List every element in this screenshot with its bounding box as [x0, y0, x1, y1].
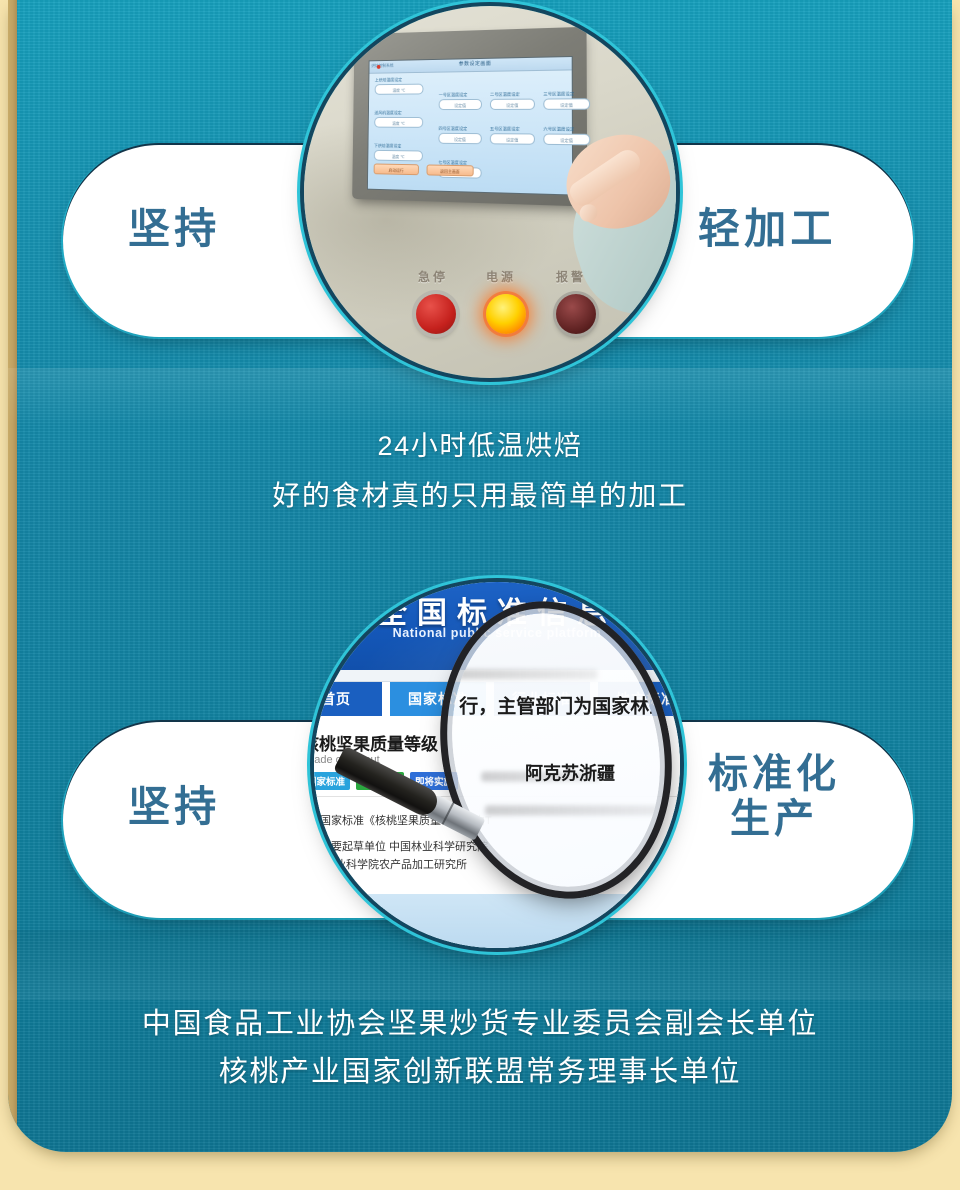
power-label: 电源	[486, 268, 516, 285]
hmi-field-caption: 送风机温度设定	[374, 110, 423, 116]
hmi-titlebar: 烘焙控制系统 参数设定画面	[369, 57, 571, 74]
hmi-subtitle: 烘焙控制系统	[371, 63, 393, 69]
hmi-start-button[interactable]: 启动运行	[374, 163, 419, 175]
hmi-field-value[interactable]: 设定值	[439, 99, 482, 110]
hmi-field-caption: 上烘焙温度设定	[375, 77, 424, 83]
hmi-field-caption: 下烘焙温度设定	[374, 143, 423, 149]
hmi-return-button[interactable]: 返回主画面	[427, 164, 474, 176]
hmi-field-caption: 三号区温度设定	[543, 91, 590, 98]
magnified-line-1: 行，主管部门为国家林业和草	[459, 691, 680, 718]
caption-association-title: 中国食品工业协会坚果炒货专业委员会副会长单位	[8, 1000, 952, 1042]
hmi-field-caption: 一号区温度设定	[439, 92, 482, 98]
pill-label-persist-1: 坚持	[128, 205, 220, 252]
teal-panel: 烘焙控制系统 参数设定画面 上烘焙温度设定 温度 ℃ 送风机温度设定 温度	[8, 0, 952, 1152]
hmi-field-caption: 二号区温度设定	[490, 91, 535, 97]
hmi-field[interactable]: 送风机温度设定 温度 ℃	[374, 110, 423, 128]
hmi-title: 参数设定画面	[459, 60, 492, 68]
magnified-line-2: 阿克苏浙疆	[525, 760, 615, 786]
hmi-field-value[interactable]: 设定值	[438, 133, 481, 144]
hmi-field[interactable]: 五号区温度设定 设定值	[490, 126, 535, 145]
caption-alliance-title: 核桃产业国家创新联盟常务理事长单位	[8, 1048, 952, 1090]
caption-simple-processing: 好的食材真的只用最简单的加工	[8, 474, 952, 514]
hmi-field[interactable]: 下烘焙温度设定 温度 ℃	[374, 143, 423, 161]
magnified-blur-line	[448, 669, 598, 679]
standard-detail-line-2: 主要起草单位 中国林业科学研究院	[320, 838, 488, 854]
caption-low-temp-baking: 24小时低温烘焙	[8, 424, 952, 463]
hmi-field-value[interactable]: 温度 ℃	[374, 117, 423, 128]
hmi-field-value[interactable]: 设定值	[490, 99, 535, 110]
tab-home[interactable]: 首页	[314, 682, 382, 716]
magnified-blur-line	[485, 805, 665, 815]
alarm-indicator-lamp[interactable]	[556, 294, 596, 334]
hmi-field-value[interactable]: 温度 ℃	[374, 150, 423, 162]
hmi-field-value[interactable]: 温度 ℃	[375, 84, 424, 95]
standard-detail-line-3: 中国农业科学院农产品加工研究所	[314, 856, 467, 872]
gold-edge-strip	[8, 0, 17, 1152]
hmi-field-caption: 四号区温度设定	[438, 126, 481, 132]
standard-title: 核桃坚果质量等级	[314, 730, 438, 755]
power-indicator-lamp[interactable]	[486, 294, 526, 334]
pill-label-persist-2: 坚持	[128, 783, 220, 830]
hmi-field[interactable]: 四号区温度设定 设定值	[438, 126, 481, 144]
national-standard-website-magnifier-photo: 全国标准信息 National public service platform …	[314, 582, 680, 948]
index-finger	[566, 145, 645, 209]
site-footer	[314, 894, 680, 948]
hmi-field-value[interactable]: 设定值	[490, 133, 535, 145]
hmi-field[interactable]: 一号区温度设定 设定值	[439, 92, 482, 110]
pill-label-standardized-production: 标准化 生产	[708, 752, 840, 842]
pill-label-light-processing: 轻加工	[698, 205, 837, 252]
emergency-stop-button[interactable]	[416, 294, 456, 334]
hmi-field[interactable]: 二号区温度设定 设定值	[490, 91, 535, 110]
emergency-stop-label: 急停	[418, 268, 448, 285]
hmi-field[interactable]: 上烘焙温度设定 温度 ℃	[375, 77, 424, 95]
control-cabinet-hmi-photo: 烘焙控制系统 参数设定画面 上烘焙温度设定 温度 ℃ 送风机温度设定 温度	[304, 6, 676, 378]
operator-hand	[534, 102, 676, 292]
promo-page: 烘焙控制系统 参数设定画面 上烘焙温度设定 温度 ℃ 送风机温度设定 温度	[0, 0, 960, 1190]
hmi-field-caption: 五号区温度设定	[490, 126, 535, 132]
